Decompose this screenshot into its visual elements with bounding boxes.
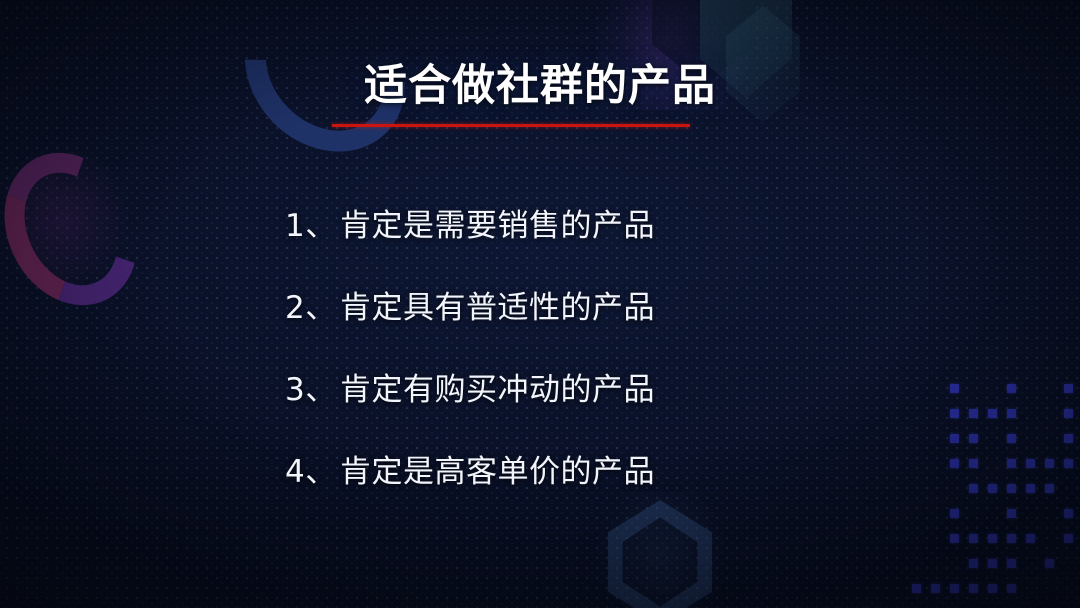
list-item-number: 3、 [285, 364, 340, 409]
list-item: 2、肯定具有普适性的产品 [285, 282, 845, 364]
slide-title-container: 适合做社群的产品 [0, 62, 1080, 110]
list-item: 1、肯定是需要销售的产品 [285, 200, 845, 282]
page-title: 适合做社群的产品 [364, 62, 716, 110]
list-item: 4、肯定是高客单价的产品 [285, 446, 845, 528]
list-item-number: 1、 [285, 200, 340, 245]
list-item-label: 肯定是高客单价的产品 [340, 446, 655, 491]
list-item-number: 4、 [285, 446, 340, 491]
bullet-list: 1、肯定是需要销售的产品2、肯定具有普适性的产品3、肯定有购买冲动的产品4、肯定… [285, 200, 845, 528]
list-item-number: 2、 [285, 282, 340, 327]
slide-content: 适合做社群的产品 1、肯定是需要销售的产品2、肯定具有普适性的产品3、肯定有购买… [0, 0, 1080, 608]
list-item: 3、肯定有购买冲动的产品 [285, 364, 845, 446]
title-underline-rule [332, 124, 690, 127]
list-item-label: 肯定具有普适性的产品 [340, 282, 655, 327]
list-item-label: 肯定是需要销售的产品 [340, 200, 655, 245]
list-item-label: 肯定有购买冲动的产品 [340, 364, 655, 409]
presentation-slide: 适合做社群的产品 1、肯定是需要销售的产品2、肯定具有普适性的产品3、肯定有购买… [0, 0, 1080, 608]
